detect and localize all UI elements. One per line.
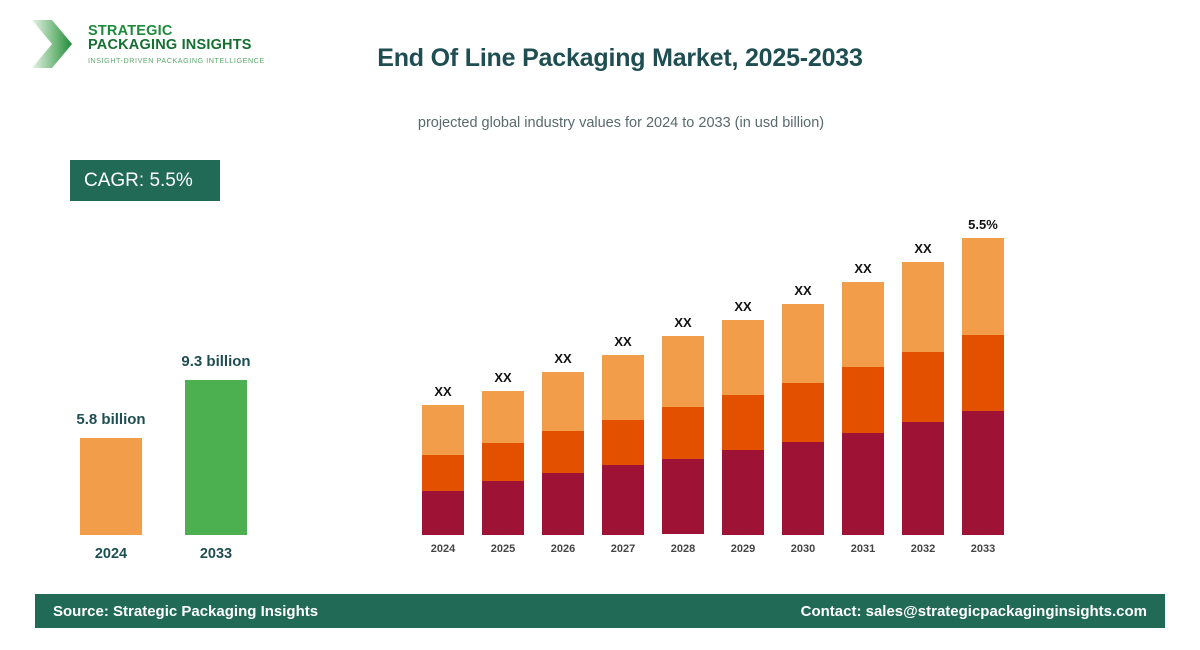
stacked-year-label-2033: 2033: [953, 543, 1013, 555]
stacked-bar-2031: [842, 282, 884, 535]
stack-segment-segment-3-2033: [962, 238, 1004, 335]
stack-segment-segment-1-2033: [962, 411, 1004, 535]
stack-segment-segment-3-2032: [902, 262, 944, 352]
stack-segment-segment-3-2031: [842, 282, 884, 367]
stack-segment-segment-1-2026: [542, 473, 584, 535]
stack-segment-segment-1-2028: [662, 459, 704, 534]
footer-source: Source: Strategic Packaging Insights: [53, 603, 318, 620]
stacked-bar-top-label-2024: XX: [413, 384, 473, 399]
stack-segment-segment-2-2033: [962, 335, 1004, 412]
stack-segment-segment-1-2027: [602, 465, 644, 535]
stacked-bar-top-label-2029: XX: [713, 299, 773, 314]
stack-segment-segment-1-2032: [902, 422, 944, 535]
stacked-bar-top-label-2033: 5.5%: [953, 217, 1013, 232]
stack-segment-segment-2-2032: [902, 352, 944, 422]
stacked-bar-top-label-2026: XX: [533, 351, 593, 366]
stacked-bar-top-label-2031: XX: [833, 261, 893, 276]
footer-bar: Source: Strategic Packaging Insights Con…: [35, 594, 1165, 628]
stacked-bar-2032: [902, 262, 944, 535]
market-size-comparison-chart: 5.8 billion20249.3 billion2033: [60, 300, 290, 570]
stacked-bar-2029: [722, 320, 764, 535]
stacked-bar-2033: [962, 238, 1004, 535]
stacked-bar-top-label-2028: XX: [653, 315, 713, 330]
stack-segment-segment-1-2025: [482, 481, 524, 535]
comparison-value-label-2024: 5.8 billion: [36, 411, 186, 428]
stack-segment-segment-2-2025: [482, 443, 524, 481]
stacked-year-label-2029: 2029: [713, 543, 773, 555]
segment-forecast-stacked-chart: XX2024XX2025XX2026XX2027XX2028XX2029XX20…: [412, 200, 1012, 555]
comparison-year-label-2024: 2024: [56, 546, 166, 562]
stack-segment-segment-1-2031: [842, 433, 884, 535]
stacked-year-label-2030: 2030: [773, 543, 833, 555]
stack-segment-segment-2-2024: [422, 455, 464, 491]
stack-segment-segment-2-2030: [782, 383, 824, 442]
comparison-year-label-2033: 2033: [161, 546, 271, 562]
stack-segment-segment-2-2027: [602, 420, 644, 466]
comparison-bar-fill: [185, 380, 247, 535]
stack-segment-segment-3-2030: [782, 304, 824, 383]
stacked-year-label-2024: 2024: [413, 543, 473, 555]
stacked-bar-2030: [782, 304, 824, 535]
footer-contact: Contact: sales@strategicpackaginginsight…: [801, 603, 1147, 620]
stacked-bar-2028: [662, 336, 704, 535]
page-title: End Of Line Packaging Market, 2025-2033: [0, 44, 1200, 73]
stacked-bar-2025: [482, 391, 524, 535]
stack-segment-segment-3-2026: [542, 372, 584, 431]
cagr-badge: CAGR: 5.5%: [70, 160, 220, 201]
stack-segment-segment-1-2030: [782, 442, 824, 535]
stacked-bar-top-label-2030: XX: [773, 283, 833, 298]
stacked-year-label-2031: 2031: [833, 543, 893, 555]
logo-line-1: STRATEGIC: [88, 24, 265, 39]
stack-segment-segment-3-2027: [602, 355, 644, 420]
stacked-bar-top-label-2027: XX: [593, 334, 653, 349]
stack-segment-segment-3-2029: [722, 320, 764, 395]
stacked-year-label-2032: 2032: [893, 543, 953, 555]
stack-segment-segment-1-2029: [722, 450, 764, 535]
stacked-bar-2024: [422, 405, 464, 535]
stacked-bar-top-label-2032: XX: [893, 241, 953, 256]
stack-segment-segment-2-2028: [662, 407, 704, 459]
stacked-year-label-2028: 2028: [653, 543, 713, 555]
stack-segment-segment-3-2025: [482, 391, 524, 443]
stack-segment-segment-2-2031: [842, 367, 884, 433]
stacked-bar-2027: [602, 355, 644, 535]
comparison-value-label-2033: 9.3 billion: [141, 353, 291, 370]
page-subtitle: projected global industry values for 202…: [0, 115, 1200, 131]
comparison-bar-fill: [80, 438, 142, 535]
stacked-year-label-2025: 2025: [473, 543, 533, 555]
stack-segment-segment-1-2024: [422, 491, 464, 535]
stacked-year-label-2027: 2027: [593, 543, 653, 555]
stack-segment-segment-2-2026: [542, 431, 584, 473]
stacked-bar-2026: [542, 372, 584, 535]
stacked-year-label-2026: 2026: [533, 543, 593, 555]
stack-segment-segment-3-2028: [662, 336, 704, 407]
stack-segment-segment-3-2024: [422, 405, 464, 455]
stack-segment-segment-2-2029: [722, 395, 764, 450]
stacked-bar-top-label-2025: XX: [473, 370, 533, 385]
